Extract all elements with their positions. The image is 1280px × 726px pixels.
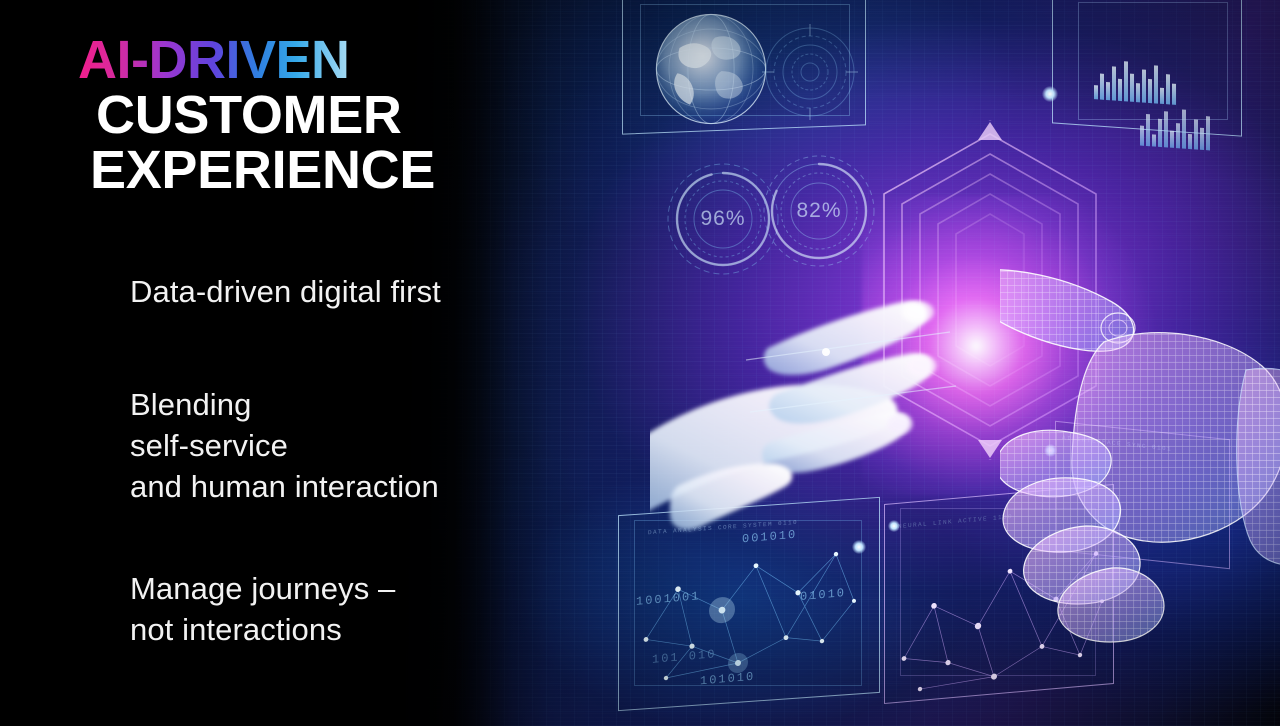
bar-chart-top bbox=[1094, 45, 1176, 105]
slide: 96% 82% bbox=[0, 0, 1280, 726]
robot-wireframe-hand bbox=[1000, 250, 1280, 670]
text-layer: AI-DRIVEN CUSTOMER EXPERIENCE Data-drive… bbox=[0, 0, 620, 726]
title-accent-line: AI-DRIVEN bbox=[78, 33, 350, 88]
title-line-3: EXPERIENCE bbox=[90, 143, 435, 198]
world-globe-icon bbox=[648, 6, 774, 132]
page-title: AI-DRIVEN CUSTOMER EXPERIENCE bbox=[78, 33, 435, 198]
bullet-3: Manage journeys – not interactions bbox=[130, 569, 395, 651]
bullet-1: Data-driven digital first bbox=[130, 272, 441, 313]
tech-rings-icon bbox=[760, 22, 860, 122]
title-line-2: CUSTOMER bbox=[96, 88, 435, 143]
hud-node-top bbox=[1042, 86, 1058, 102]
bullet-2: Blending self-service and human interact… bbox=[130, 385, 439, 508]
bar-chart-top-2 bbox=[1140, 106, 1210, 151]
human-hand bbox=[650, 236, 1000, 576]
